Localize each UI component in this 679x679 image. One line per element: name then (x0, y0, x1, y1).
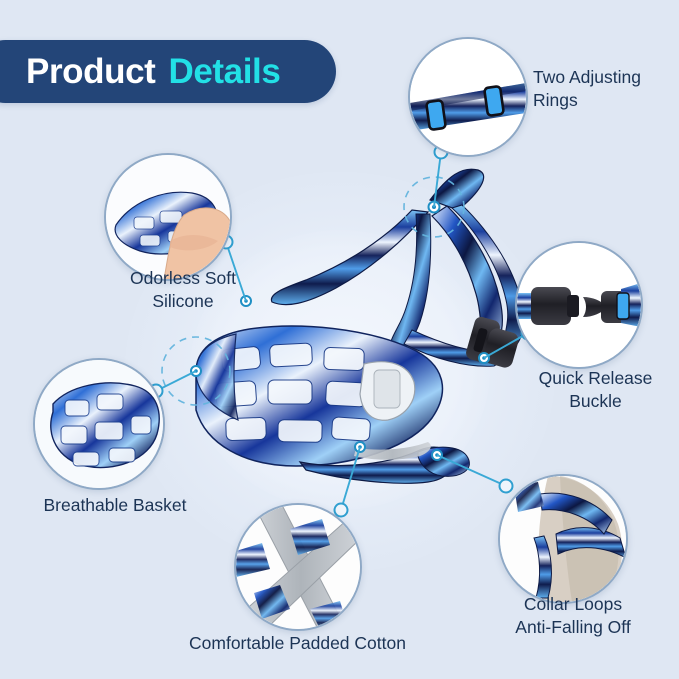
padded-cotton-straps-photo (236, 505, 360, 629)
callout-bubble-two-adjusting-rings[interactable] (408, 37, 528, 157)
callout-label-odorless-soft-silicone: Odorless Soft Silicone (100, 267, 266, 313)
callout-bubble-collar-loops[interactable] (498, 474, 628, 604)
strap-with-rings-photo (410, 39, 526, 155)
side-release-buckle-photo (517, 243, 641, 367)
silicone-basket-photo (35, 360, 163, 488)
infographic-canvas: Product Details Two Adjusting Rings (0, 0, 679, 679)
callout-label-comfortable-padded-cotton: Comfortable Padded Cotton (160, 632, 435, 655)
page-title-primary: Product (26, 54, 155, 89)
callout-bubble-breathable-basket[interactable] (33, 358, 165, 490)
hand-squeezing-silicone-photo (106, 155, 230, 279)
callout-label-breathable-basket: Breathable Basket (16, 494, 214, 517)
callout-label-two-adjusting-rings: Two Adjusting Rings (533, 66, 679, 112)
page-title-banner: Product Details (0, 40, 336, 103)
callout-label-quick-release-buckle: Quick Release Buckle (512, 367, 679, 413)
callout-bubble-odorless-soft-silicone[interactable] (104, 153, 232, 281)
callout-bubble-comfortable-padded-cotton[interactable] (234, 503, 362, 631)
page-title-accent: Details (168, 54, 280, 89)
callout-bubble-quick-release-buckle[interactable] (515, 241, 643, 369)
dog-neck-collar-loops-photo (500, 476, 626, 602)
callout-label-collar-loops: Collar Loops Anti-Falling Off (483, 593, 663, 639)
